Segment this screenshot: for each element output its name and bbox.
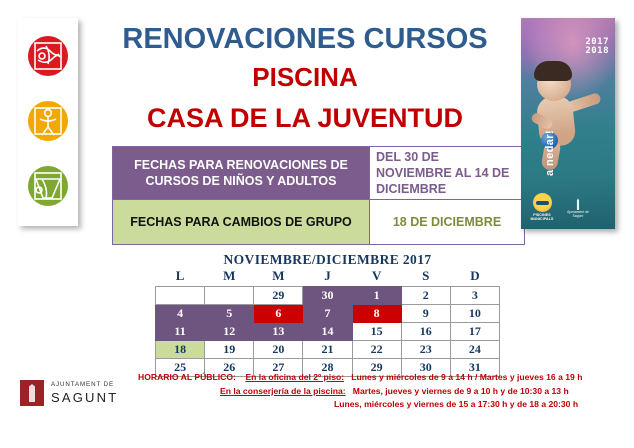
sagunt-shield-icon [20, 380, 44, 406]
piscines-label-line2: MUNICIPALS [527, 217, 557, 221]
calendar-day-cell: 29 [254, 287, 303, 305]
calendar-day-cell: 21 [303, 341, 352, 359]
ajuntament-sagunt-logo: AJUNTAMENT DE SAGUNT [20, 376, 132, 410]
table-row: FECHAS PARA RENOVACIONES DE CURSOS DE NI… [113, 147, 525, 200]
calendar-day-cell: 1 [352, 287, 401, 305]
calendar-weekday-1: M [205, 268, 254, 287]
calendar-day-cell: 10 [450, 305, 499, 323]
calendar-title: NOVIEMBRE/DICIEMBRE 2017 [155, 252, 500, 268]
sagunt-logo-line2: SAGUNT [51, 391, 118, 404]
page-title-sub-piscina: PISCINA [95, 62, 515, 92]
calendar-weekday-4: V [352, 268, 401, 287]
calendar-day-cell: 15 [352, 323, 401, 341]
calendar-day-cell: 14 [303, 323, 352, 341]
calendar-day-cell: 19 [205, 341, 254, 359]
schedule-heading: HORARIO AL PÚBLICO: [138, 372, 236, 382]
municipal-logo-yellow-icon [24, 90, 72, 152]
page-title-sub-casa-juventud: CASA DE LA JUVENTUD [95, 102, 515, 134]
sagunt-logo-text: AJUNTAMENT DE SAGUNT [51, 382, 118, 404]
calendar-weekday-header-row: L M M J V S D [156, 268, 500, 287]
info-value-cambios-grupo: 18 DE DICIEMBRE [370, 200, 525, 245]
calendar-week-row: 18192021222324 [156, 341, 500, 359]
dates-info-table: FECHAS PARA RENOVACIONES DE CURSOS DE NI… [112, 146, 525, 245]
piscines-swimmer-icon [533, 193, 552, 212]
calendar-day-cell: 6 [254, 305, 303, 323]
calendar-day-cell: 12 [205, 323, 254, 341]
calendar-weekday-0: L [156, 268, 205, 287]
calendar-weekday-3: J [303, 268, 352, 287]
calendar-day-cell [156, 287, 205, 305]
table-row: FECHAS PARA CAMBIOS DE GRUPO 18 DE DICIE… [113, 200, 525, 245]
poster-logo-piscines-municipals: PISCINES MUNICIPALS [527, 193, 557, 221]
schedule-office-label: En la oficina del 2º piso: [245, 372, 344, 382]
swim-course-poster-image: 2017 2018 a nedar! PISCINES MUNICIPALS A… [521, 18, 615, 229]
calendar-day-cell: 13 [254, 323, 303, 341]
logo-strip [18, 18, 78, 226]
calendar-day-cell: 2 [401, 287, 450, 305]
baby-hair [534, 61, 572, 81]
calendar-day-cell: 7 [303, 305, 352, 323]
poster-slogan: a nedar! [544, 130, 614, 176]
calendar-day-cell: 22 [352, 341, 401, 359]
schedule-conserjeria-text: Martes, jueves y viernes de 9 a 10 h y d… [353, 386, 569, 396]
calendar-weekday-5: S [401, 268, 450, 287]
calendar-week-row: 45678910 [156, 305, 500, 323]
poster-year-end: 2018 [585, 47, 609, 56]
info-label-cambios-grupo: FECHAS PARA CAMBIOS DE GRUPO [113, 200, 370, 245]
calendar-day-cell: 20 [254, 341, 303, 359]
poster-season-years: 2017 2018 [585, 38, 609, 56]
calendar-weekday-6: D [450, 268, 499, 287]
schedule-conserjeria-text-2: Lunes, miércoles y viernes de 15 a 17:30… [334, 399, 578, 409]
calendar-day-cell: 4 [156, 305, 205, 323]
calendar-day-cell: 23 [401, 341, 450, 359]
info-label-renovaciones: FECHAS PARA RENOVACIONES DE CURSOS DE NI… [113, 147, 370, 200]
calendar-table: L M M J V S D 29301234567891011121314151… [155, 268, 500, 377]
page-title-main: RENOVACIONES CURSOS [95, 22, 515, 56]
municipal-logo-red-icon [24, 25, 72, 87]
municipal-logo-green-icon [24, 155, 72, 217]
calendar-day-cell: 17 [450, 323, 499, 341]
schedule-conserjeria-label: En la conserjería de la piscina: [220, 386, 346, 396]
calendar-weekday-2: M [254, 268, 303, 287]
poster-logo-ajuntament: Ajuntament de Sagunt [563, 198, 593, 219]
public-schedule-footer: HORARIO AL PÚBLICO: En la oficina del 2º… [138, 371, 624, 412]
sagunt-logo-line1: AJUNTAMENT DE [51, 382, 118, 388]
calendar-day-cell [205, 287, 254, 305]
info-value-renovaciones: DEL 30 DE NOVIEMBRE AL 14 DE DICIEMBRE [370, 147, 525, 200]
calendar-day-cell: 18 [156, 341, 205, 359]
calendar-day-cell: 9 [401, 305, 450, 323]
calendar-day-cell: 16 [401, 323, 450, 341]
schedule-office-text: Lunes y miércoles de 9 a 14 h / Martes y… [351, 372, 582, 382]
schedule-line-conserjeria: En la conserjería de la piscina: Martes,… [138, 385, 624, 399]
ajuntament-emblem-icon [574, 198, 583, 210]
ajuntament-label: Ajuntament de Sagunt [563, 211, 593, 219]
calendar-week-row: 11121314151617 [156, 323, 500, 341]
calendar-day-cell: 5 [205, 305, 254, 323]
calendar-day-cell: 11 [156, 323, 205, 341]
calendar-body: 2930123456789101112131415161718192021222… [156, 287, 500, 377]
calendar-day-cell: 3 [450, 287, 499, 305]
calendar-day-cell: 30 [303, 287, 352, 305]
schedule-line-conserjeria-2: Lunes, miércoles y viernes de 15 a 17:30… [138, 398, 624, 412]
calendar-day-cell: 24 [450, 341, 499, 359]
calendar-week-row: 2930123 [156, 287, 500, 305]
calendar-day-cell: 8 [352, 305, 401, 323]
schedule-line-office: HORARIO AL PÚBLICO: En la oficina del 2º… [138, 371, 624, 385]
